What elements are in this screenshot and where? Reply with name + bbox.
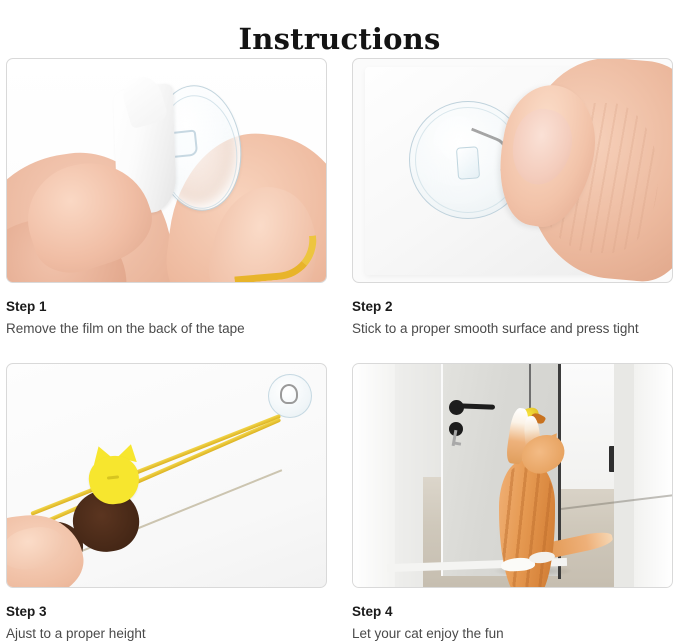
step-1-photo-remove-film xyxy=(6,58,327,283)
step-4-label: Step 4 xyxy=(352,604,673,620)
elastic-cord-lower-illustration xyxy=(30,418,281,530)
step-card-4: Step 4 Let your cat enjoy the fun xyxy=(352,363,673,633)
step-1-label: Step 1 xyxy=(6,299,327,315)
step-2-photo-stick-surface xyxy=(352,58,673,283)
instruction-steps-grid: Step 1 Remove the film on the back of th… xyxy=(6,58,673,633)
elastic-cord-upper-illustration xyxy=(30,414,281,516)
wall-left-illustration xyxy=(353,364,395,587)
step-3-photo-adjust-height xyxy=(6,363,327,588)
page-title: Instructions xyxy=(0,19,679,59)
step-4-photo-cat-playing xyxy=(352,363,673,588)
step-3-description: Ajust to a proper height xyxy=(6,625,327,642)
step-card-2: Step 2 Stick to a proper smooth surface … xyxy=(352,58,673,363)
step-3-label: Step 3 xyxy=(6,604,327,620)
step-card-3: Step 3 Ajust to a proper height xyxy=(6,363,327,633)
step-2-label: Step 2 xyxy=(352,299,673,315)
step-card-1: Step 1 Remove the film on the back of th… xyxy=(6,58,327,363)
wall-right-illustration xyxy=(634,364,672,587)
metal-clip-illustration xyxy=(280,384,298,404)
step-2-description: Stick to a proper smooth surface and pre… xyxy=(352,320,673,337)
wall-right-panel-illustration xyxy=(614,364,634,587)
step-1-description: Remove the film on the back of the tape xyxy=(6,320,327,337)
step-4-description: Let your cat enjoy the fun xyxy=(352,625,673,642)
toy-string-illustration xyxy=(529,364,531,412)
